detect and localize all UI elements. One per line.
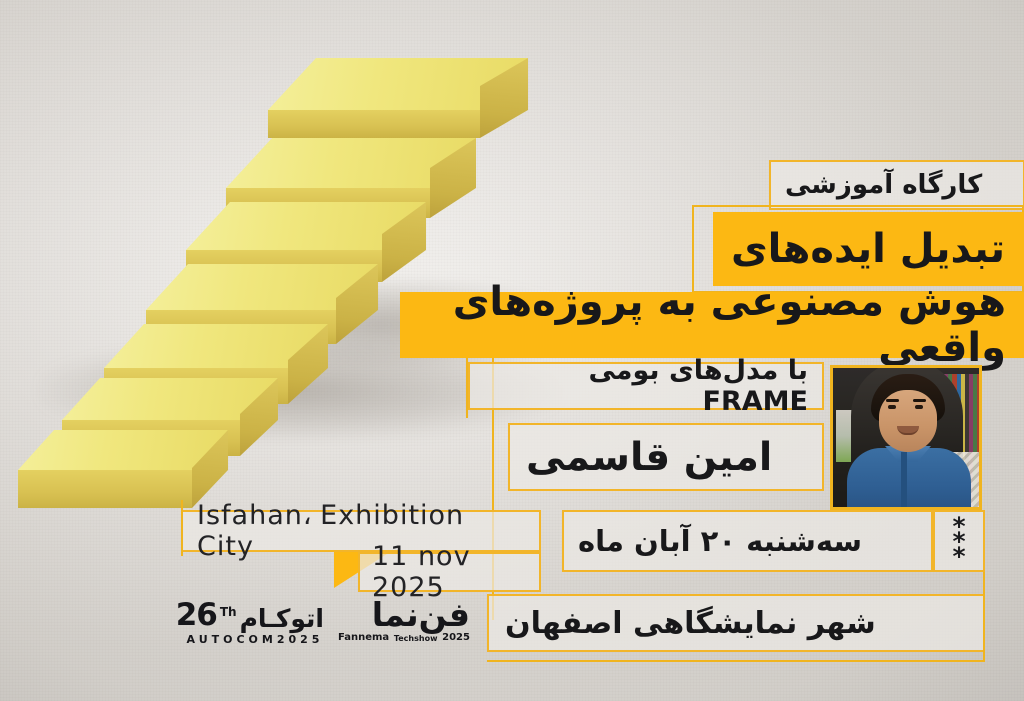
frame-stroke-bottom	[487, 660, 985, 662]
fannema-name-fa: فن‌نما	[338, 598, 470, 631]
kicker-text: کارگاه آموزشی	[785, 170, 982, 200]
headline-line2-block: هوش مصنوعی به پروژه‌های واقعی	[400, 292, 1024, 358]
subhead-text: با مدل‌های بومی FRAME	[484, 355, 808, 417]
poster-canvas: کارگاه آموزشی تبدیل ایده‌های هوش مصنوعی …	[0, 0, 1024, 701]
date-fa-panel: سه‌شنبه ۲۰ آبان ماه	[562, 510, 933, 572]
asterisk-panel: ***	[933, 510, 985, 572]
autocom-logo: 26 Th اتوکـام AUTOCOM2025	[186, 600, 324, 646]
fannema-name-en: Fannema	[338, 632, 389, 643]
fannema-tagline: Techshow	[394, 634, 438, 643]
autocom-number: 26	[176, 600, 217, 631]
venue-fa-panel: شهر نمایشگاهی اصفهان	[487, 594, 985, 652]
autocom-ordinal: Th	[220, 606, 237, 618]
fannema-year: 2025	[442, 632, 470, 643]
kicker-panel: کارگاه آموزشی	[769, 160, 1024, 210]
frame-stroke-right	[983, 572, 985, 662]
headline-line1-text: تبدیل ایده‌های	[731, 226, 1005, 272]
fannema-logo: فن‌نما Fannema Techshow 2025	[338, 598, 470, 643]
autocom-wordmark: AUTOCOM2025	[186, 633, 324, 646]
headline-line1-block: تبدیل ایده‌های	[713, 212, 1024, 286]
date-fa-text: سه‌شنبه ۲۰ آبان ماه	[578, 524, 862, 558]
date-en-panel: 11 nov 2025	[358, 552, 541, 592]
speaker-photo	[830, 365, 982, 510]
venue-fa-text: شهر نمایشگاهی اصفهان	[505, 606, 876, 641]
asterisk-decoration: ***	[952, 519, 965, 564]
frame-stroke-left-tall	[181, 500, 183, 556]
speaker-name-panel: امین قاسمی	[508, 423, 824, 491]
speaker-name-text: امین قاسمی	[526, 435, 772, 480]
autocom-name-fa: اتوکـام	[240, 606, 324, 631]
subhead-panel: با مدل‌های بومی FRAME	[468, 362, 824, 410]
